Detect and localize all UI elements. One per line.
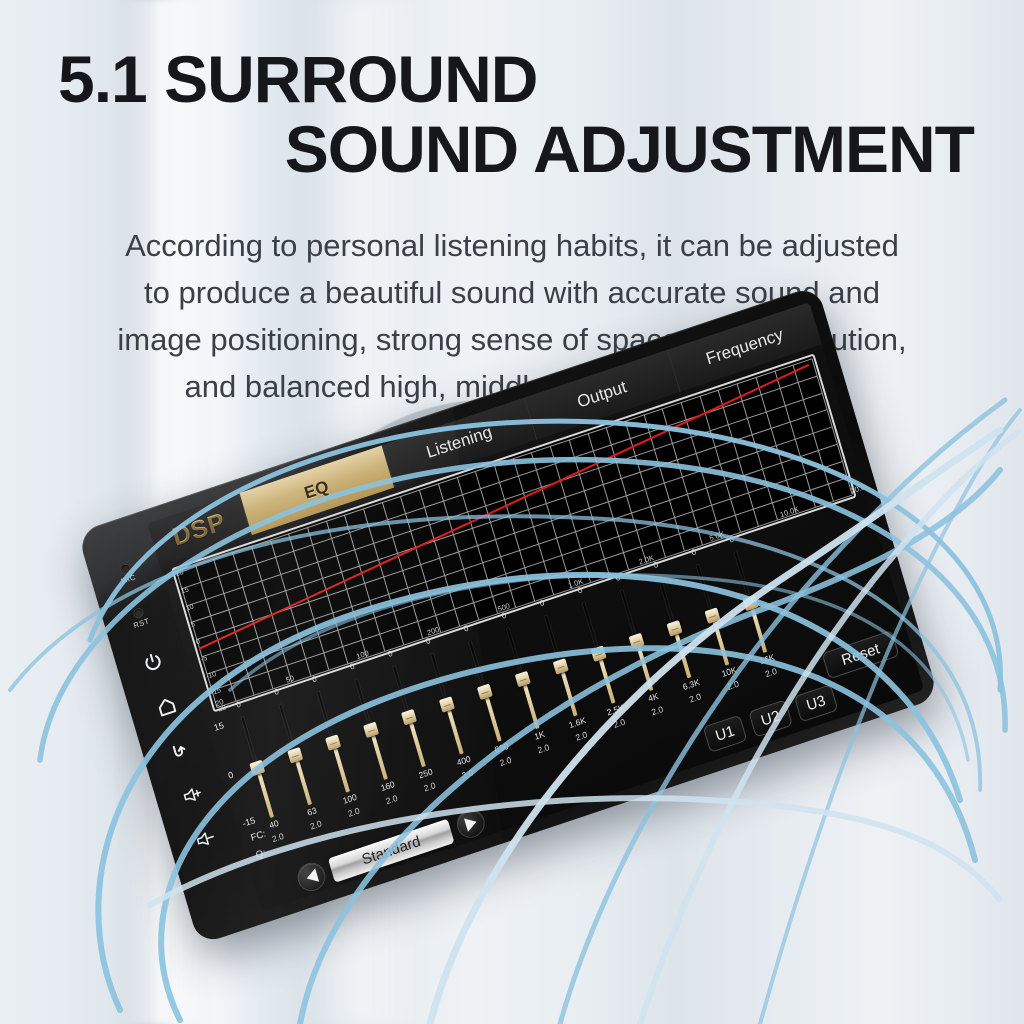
eq-graph-y-label: -15 [210, 687, 222, 697]
page-title-line-2: SOUND ADJUSTMENT [40, 114, 984, 184]
band-frequency-label: 630 [493, 741, 509, 755]
volume-up-icon [180, 783, 205, 806]
eq-grid-vline [456, 477, 497, 614]
slider-track[interactable] [431, 654, 462, 754]
eq-band-slider[interactable]: 01602.0 [335, 667, 416, 824]
eq-graph-y-label: -10 [205, 670, 217, 680]
eq-grid-vline [699, 396, 740, 533]
eq-graph-y-label: -20 [215, 704, 227, 714]
power-icon [141, 649, 166, 675]
eq-graph-x-label: 2.0K [638, 553, 655, 567]
preset-prev-button[interactable] [295, 860, 327, 893]
slider-knob[interactable] [477, 684, 493, 701]
slider-knob[interactable] [629, 633, 645, 650]
slider-fill [751, 609, 767, 653]
eq-grid-vline [755, 377, 796, 514]
slider-track[interactable] [241, 717, 272, 817]
eq-graph-x-label: 200 [426, 625, 440, 638]
band-q-value: 2.0 [688, 691, 702, 704]
rst-label: RST [132, 616, 150, 630]
band-frequency-label: 40 [268, 818, 280, 831]
eq-grid-vline [195, 564, 236, 701]
slider-fill [371, 736, 387, 780]
band-gain-value: 0 [235, 700, 242, 710]
eq-grid-vline [269, 539, 310, 676]
fc-q-labels: FC: Q: [250, 828, 275, 867]
eq-grid-vline [475, 471, 516, 608]
eq-grid-vline [587, 433, 628, 570]
slider-knob[interactable] [742, 595, 758, 612]
mic-label: MIC [120, 572, 137, 585]
page-title: 5.1 SURROUND SOUND ADJUSTMENT [0, 44, 1024, 184]
slider-knob[interactable] [704, 607, 720, 624]
eq-grid-vline [307, 527, 348, 664]
eq-grid-vline [363, 508, 404, 645]
subtitle-line-1: According to personal listening habits, … [0, 222, 1024, 269]
eq-graph-x-label: 10.0K [779, 504, 800, 519]
eq-graph-x-label: 50 [285, 673, 295, 684]
user-preset-u1[interactable]: U1 [703, 715, 748, 753]
eq-grid-vline [213, 558, 254, 695]
band-q-value: 2.0 [612, 717, 626, 730]
subtitle-line-2: to produce a beautiful sound with accura… [0, 269, 1024, 316]
band-q-value: 2.0 [726, 679, 740, 692]
slider-knob[interactable] [287, 747, 303, 764]
eq-grid-vline [344, 514, 385, 651]
fc-label: FC: [250, 828, 268, 843]
band-q-value: 2.0 [423, 780, 437, 793]
mic-led-icon [120, 563, 130, 573]
slider-fill [485, 697, 501, 741]
left-arrow-icon [304, 868, 318, 885]
tab-eq[interactable]: EQ [238, 445, 393, 535]
eq-grid-vline [512, 458, 553, 595]
band-frequency-label: 1.6K [568, 715, 587, 730]
band-frequency-label: 4K [647, 691, 660, 704]
eq-band-slider[interactable]: 02502.0 [373, 655, 454, 812]
subtitle-line-3: image positioning, strong sense of space… [0, 316, 1024, 363]
eq-grid-vline [793, 364, 834, 501]
right-arrow-icon [464, 815, 478, 832]
eq-graph-y-label: 0 [195, 638, 201, 646]
band-q-value: 2.0 [498, 755, 512, 768]
eq-graph-y-label: -5 [200, 655, 208, 664]
slider-knob[interactable] [591, 645, 607, 662]
band-q-value: 2.0 [385, 793, 399, 806]
slider-knob[interactable] [515, 671, 531, 688]
band-q-value: 2.0 [271, 831, 285, 844]
eq-grid-vline [643, 414, 684, 551]
slider-fill [713, 621, 729, 665]
slider-knob[interactable] [401, 709, 417, 726]
q-label: Q: [255, 846, 273, 861]
band-frequency-label: 100 [342, 792, 358, 806]
slider-fill [523, 685, 539, 729]
reset-pinhole-icon[interactable] [133, 608, 143, 618]
eq-grid-vline [494, 464, 535, 601]
slider-knob[interactable] [667, 620, 683, 637]
band-frequency-label: 63 [306, 805, 318, 818]
slider-track[interactable] [279, 705, 310, 805]
band-gain-value: 0 [273, 687, 280, 697]
slider-knob[interactable] [439, 696, 455, 713]
eq-graph-x-label: 100 [355, 648, 369, 661]
eq-band-slider[interactable]: 01002.0 [298, 680, 379, 837]
band-frequency-label: 160 [380, 779, 396, 793]
band-q-value: 2.0 [347, 805, 361, 818]
slider-fill [295, 761, 311, 805]
slider-knob[interactable] [325, 734, 341, 751]
band-q-value: 2.0 [309, 818, 323, 831]
band-frequency-label: 250 [417, 766, 433, 780]
band-q-value: 2.0 [536, 742, 550, 755]
slider-knob[interactable] [363, 722, 379, 739]
slider-fill [599, 659, 615, 703]
band-frequency-label: 16K [758, 652, 775, 666]
user-preset-u2[interactable]: U2 [748, 699, 793, 737]
slider-fill [675, 634, 691, 678]
eq-grid-vline [737, 383, 778, 520]
band-gain-value: 0 [311, 674, 318, 684]
back-arrow-icon [167, 738, 192, 764]
reset-button[interactable]: Reset [822, 630, 900, 679]
eq-graph-y-label: 20 [175, 569, 184, 578]
home-icon [153, 693, 179, 720]
eq-graph-y-label: 10 [185, 603, 194, 612]
eq-grid-vline [232, 552, 273, 689]
slider-fill [561, 672, 577, 716]
gain-scale-mid: 0 [227, 770, 235, 781]
dsp-device-illustration: MIC RST [118, 400, 898, 870]
eq-grid-vline [326, 521, 367, 658]
eq-grid-vline [251, 546, 292, 683]
user-preset-u3[interactable]: U3 [794, 684, 839, 722]
gain-scale-bottom: -15 [241, 815, 256, 829]
eq-band-slider[interactable]: 04002.0 [411, 642, 492, 799]
band-gain-value: 0 [425, 636, 432, 646]
slider-fill [447, 710, 463, 754]
eq-grid-vline [400, 496, 441, 633]
eq-graph-x-label: 20 [214, 697, 224, 708]
gain-scale-top: 15 [213, 720, 225, 733]
eq-grid-vline [419, 489, 460, 626]
eq-graph-x-label: 5.0K [708, 529, 725, 543]
dsp-brand-label: DSP [147, 493, 251, 566]
slider-fill [409, 723, 425, 767]
eq-grid-vline [550, 446, 591, 583]
slider-knob[interactable] [249, 760, 265, 777]
eq-graph-x-label: 20.0K [849, 481, 870, 496]
band-q-value: 2.0 [650, 704, 664, 717]
band-q-value: 2.0 [764, 666, 778, 679]
eq-graph-y-label: 15 [180, 586, 189, 595]
band-q-value: 2.0 [461, 767, 475, 780]
band-frequency-label: 1K [533, 729, 546, 742]
eq-graph-y-label: 5 [190, 621, 196, 629]
eq-band-slider[interactable]: 0632.0 [260, 693, 341, 850]
slider-track[interactable] [355, 679, 386, 779]
page-title-line-1: 5.1 SURROUND [40, 44, 984, 114]
slider-track[interactable] [393, 667, 424, 767]
slider-fill [333, 748, 349, 792]
band-q-value: 2.0 [574, 729, 588, 742]
eq-grid-vline [288, 533, 329, 670]
eq-grid-vline [774, 371, 815, 508]
slider-fill [637, 647, 653, 691]
volume-down-icon [193, 827, 218, 850]
band-gain-value: 0 [387, 649, 394, 659]
preset-next-button[interactable] [455, 807, 487, 840]
band-frequency-label: 6.3K [681, 677, 700, 692]
eq-grid-vline [531, 452, 572, 589]
band-frequency-label: 2.5K [606, 702, 625, 717]
eq-grid-vline [438, 483, 479, 620]
band-frequency-label: 400 [455, 754, 471, 768]
eq-grid-vline [382, 502, 423, 639]
page-subtitle: According to personal listening habits, … [0, 222, 1024, 410]
eq-grid-vline [718, 389, 759, 526]
slider-knob[interactable] [553, 658, 569, 675]
band-gain-value: 0 [463, 623, 470, 633]
band-frequency-label: 10K [721, 665, 738, 679]
slider-fill [257, 774, 273, 818]
slider-track[interactable] [317, 692, 348, 792]
band-gain-value: 0 [349, 662, 356, 672]
